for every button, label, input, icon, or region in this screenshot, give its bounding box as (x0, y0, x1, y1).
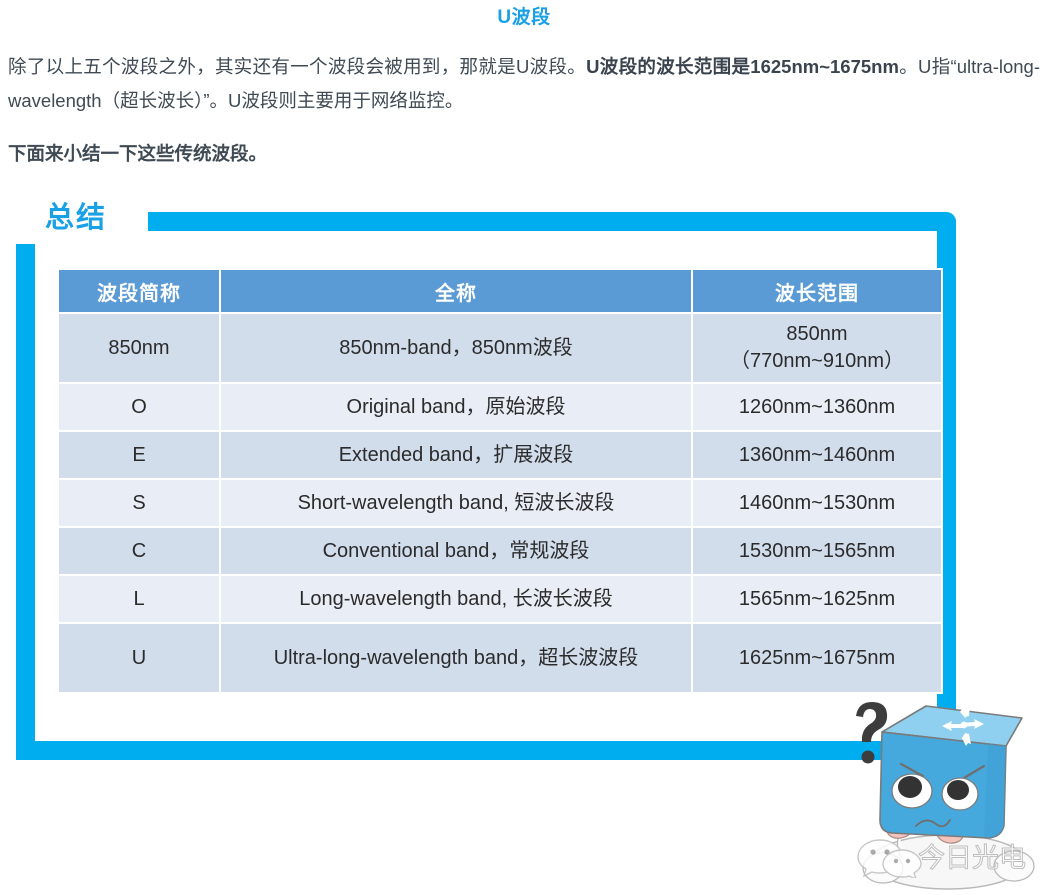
cell-abbreviation: 850nm (59, 314, 219, 382)
cell-range: 1260nm~1360nm (693, 384, 941, 430)
cell-abbreviation: O (59, 384, 219, 430)
mascot-blue-cube-character (838, 694, 1048, 895)
table-header-row: 波段简称 全称 波长范围 (59, 270, 941, 312)
summary-frame-bottom-border (16, 741, 956, 760)
cell-range: 850nm（770nm~910nm） (693, 314, 941, 382)
cell-range: 1460nm~1530nm (693, 480, 941, 526)
cell-fullname: Conventional band，常规波段 (221, 528, 691, 574)
cell-abbreviation: L (59, 576, 219, 622)
cell-fullname: 850nm-band，850nm波段 (221, 314, 691, 382)
cell-fullname: Long-wavelength band, 长波长波段 (221, 576, 691, 622)
cell-fullname: Extended band，扩展波段 (221, 432, 691, 478)
column-header-fullname: 全称 (221, 270, 691, 312)
paragraph-1-text-plain-a: 除了以上五个波段之外，其实还有一个波段会被用到，那就是U波段。 (8, 56, 586, 77)
table-row: EExtended band，扩展波段1360nm~1460nm (59, 432, 941, 478)
paragraph-1-text-bold: U波段的波长范围是1625nm~1675nm (586, 56, 899, 77)
cell-fullname: Original band，原始波段 (221, 384, 691, 430)
column-header-range: 波长范围 (693, 270, 941, 312)
table-row: SShort-wavelength band, 短波长波段1460nm~1530… (59, 480, 941, 526)
summary-heading: 总结 (45, 194, 107, 236)
table-row: LLong-wavelength band, 长波长波段1565nm~1625n… (59, 576, 941, 622)
cell-fullname: Short-wavelength band, 短波长波段 (221, 480, 691, 526)
cell-abbreviation: C (59, 528, 219, 574)
table-body: 850nm850nm-band，850nm波段850nm（770nm~910nm… (59, 314, 941, 692)
article-paragraph-1: 除了以上五个波段之外，其实还有一个波段会被用到，那就是U波段。U波段的波长范围是… (8, 50, 1040, 118)
cell-range-line-1: 850nm (693, 321, 941, 348)
summary-frame-left-border (16, 244, 35, 760)
cell-range-line-2: （770nm~910nm） (693, 348, 941, 375)
table-row: CConventional band，常规波段1530nm~1565nm (59, 528, 941, 574)
cell-range: 1625nm~1675nm (693, 624, 941, 692)
cell-abbreviation: S (59, 480, 219, 526)
summary-frame-top-border (148, 212, 956, 231)
cell-range: 1565nm~1625nm (693, 576, 941, 622)
page-title: U波段 (0, 2, 1048, 29)
column-header-abbreviation: 波段简称 (59, 270, 219, 312)
article-paragraph-2: 下面来小结一下这些传统波段。 (8, 137, 1040, 171)
table-row: OOriginal band，原始波段1260nm~1360nm (59, 384, 941, 430)
cell-range: 1530nm~1565nm (693, 528, 941, 574)
cell-abbreviation: U (59, 624, 219, 692)
cell-abbreviation: E (59, 432, 219, 478)
cell-fullname: Ultra-long-wavelength band，超长波波段 (221, 624, 691, 692)
table-row: UUltra-long-wavelength band，超长波波段1625nm~… (59, 624, 941, 692)
band-summary-table: 波段简称 全称 波长范围 850nm850nm-band，850nm波段850n… (57, 268, 943, 694)
table-row: 850nm850nm-band，850nm波段850nm（770nm~910nm… (59, 314, 941, 382)
cell-range: 1360nm~1460nm (693, 432, 941, 478)
